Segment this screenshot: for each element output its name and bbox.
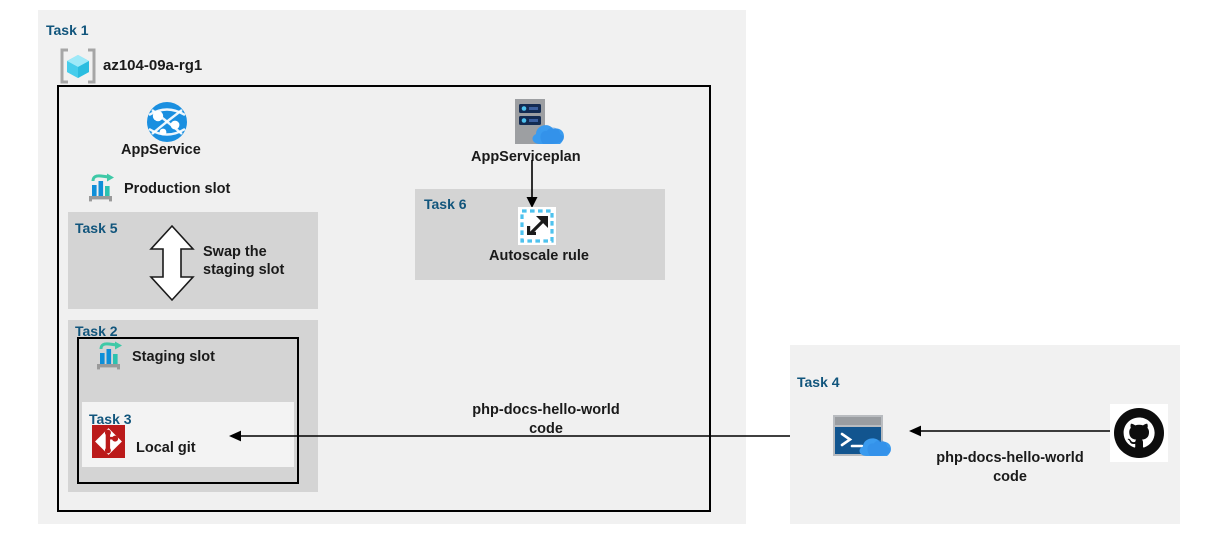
task4-label: Task 4 <box>797 374 840 390</box>
resource-group-icon <box>58 48 98 89</box>
resource-group-name: az104-09a-rg1 <box>103 57 202 74</box>
app-service-icon <box>146 101 188 148</box>
local-git-label: Local git <box>136 440 196 456</box>
autoscale-rule-label: Autoscale rule <box>489 248 589 264</box>
connector-github-to-cloudshell <box>905 420 1110 447</box>
task6-label: Task 6 <box>424 196 467 212</box>
production-slot-label: Production slot <box>124 181 230 197</box>
staging-slot-label: Staging slot <box>132 349 215 365</box>
deployment-slot-icon-production <box>87 173 119 208</box>
connector-cloudshell-to-localgit <box>225 425 825 452</box>
task1-label: Task 1 <box>46 22 89 38</box>
double-headed-vertical-arrow-icon <box>148 224 196 307</box>
swap-action-label: Swap the staging slot <box>203 243 284 279</box>
app-service-label: AppService <box>121 142 201 158</box>
task5-label: Task 5 <box>75 220 118 236</box>
github-icon <box>1110 404 1168 467</box>
deployment-slot-icon-staging <box>95 341 127 376</box>
git-icon <box>92 425 125 463</box>
github-to-cloudshell-label: php-docs-hello-world code <box>925 449 1095 487</box>
app-service-plan-icon <box>510 97 574 154</box>
autoscale-icon <box>518 207 556 250</box>
cloud-shell-icon <box>831 413 903 463</box>
diagram-canvas: Task 1 az104-09a-rg1 AppService <box>0 0 1218 545</box>
